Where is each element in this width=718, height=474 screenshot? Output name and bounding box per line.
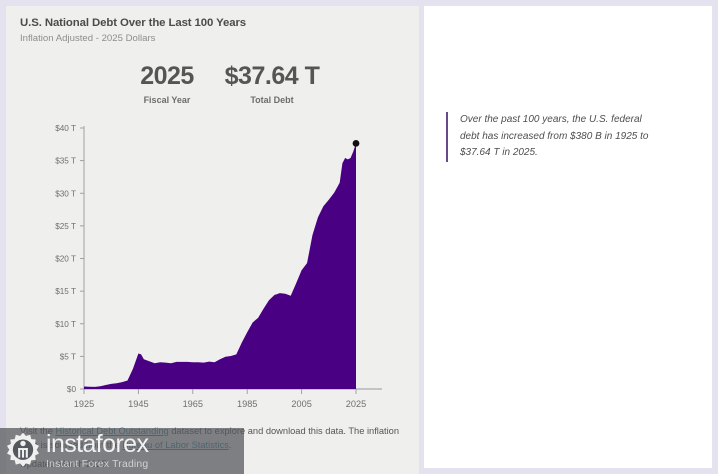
card-header: U.S. National Debt Over the Last 100 Yea… (20, 16, 410, 45)
annotation-panel: Over the past 100 years, the U.S. federa… (424, 6, 712, 468)
screenshot-stage: U.S. National Debt Over the Last 100 Yea… (0, 0, 718, 474)
x-tick-label: 2025 (346, 399, 366, 409)
watermark-tagline: Instant Forex Trading (46, 458, 148, 471)
y-tick-label: $25 T (55, 222, 76, 231)
y-tick-label: $0 (67, 385, 77, 394)
stat-fiscal-year-label: Fiscal Year (118, 94, 216, 106)
stat-row: 2025 Fiscal Year $37.64 T Total Debt (118, 62, 328, 106)
page-title: U.S. National Debt Over the Last 100 Yea… (20, 16, 410, 30)
y-tick-label: $20 T (55, 255, 76, 264)
stat-fiscal-year: 2025 Fiscal Year (118, 62, 216, 106)
x-axis: 192519451965198520052025 (74, 389, 382, 409)
x-tick-label: 1965 (183, 399, 203, 409)
x-tick-label: 1925 (74, 399, 94, 409)
stat-total-debt: $37.64 T Total Debt (216, 62, 328, 106)
latest-value-marker (353, 140, 360, 147)
stat-total-debt-value: $37.64 T (216, 62, 328, 90)
insight-callout-text: Over the past 100 years, the U.S. federa… (460, 112, 660, 162)
y-tick-label: $40 T (55, 124, 76, 133)
x-tick-label: 2005 (291, 399, 311, 409)
y-axis: $0$5 T$10 T$15 T$20 T$25 T$30 T$35 T$40 … (55, 124, 84, 394)
debt-area-chart: $0$5 T$10 T$15 T$20 T$25 T$30 T$35 T$40 … (20, 118, 410, 418)
national-debt-card: U.S. National Debt Over the Last 100 Yea… (6, 6, 419, 474)
instaforex-gear-logo-icon (2, 430, 44, 472)
insight-callout: Over the past 100 years, the U.S. federa… (446, 112, 660, 162)
y-tick-label: $5 T (60, 352, 76, 361)
y-tick-label: $15 T (55, 287, 76, 296)
x-tick-label: 1985 (237, 399, 257, 409)
page-subtitle: Inflation Adjusted - 2025 Dollars (20, 32, 410, 45)
y-tick-label: $30 T (55, 189, 76, 198)
y-tick-label: $35 T (55, 157, 76, 166)
instaforex-watermark: instaforex Instant Forex Trading (0, 428, 244, 474)
chart-svg: $0$5 T$10 T$15 T$20 T$25 T$30 T$35 T$40 … (20, 118, 410, 418)
watermark-text: instaforex Instant Forex Trading (46, 432, 148, 471)
debt-series-area (84, 143, 356, 389)
stat-fiscal-year-value: 2025 (118, 62, 216, 90)
stat-total-debt-label: Total Debt (216, 94, 328, 106)
watermark-brand: instaforex (46, 432, 148, 457)
y-tick-label: $10 T (55, 320, 76, 329)
x-tick-label: 1945 (128, 399, 148, 409)
